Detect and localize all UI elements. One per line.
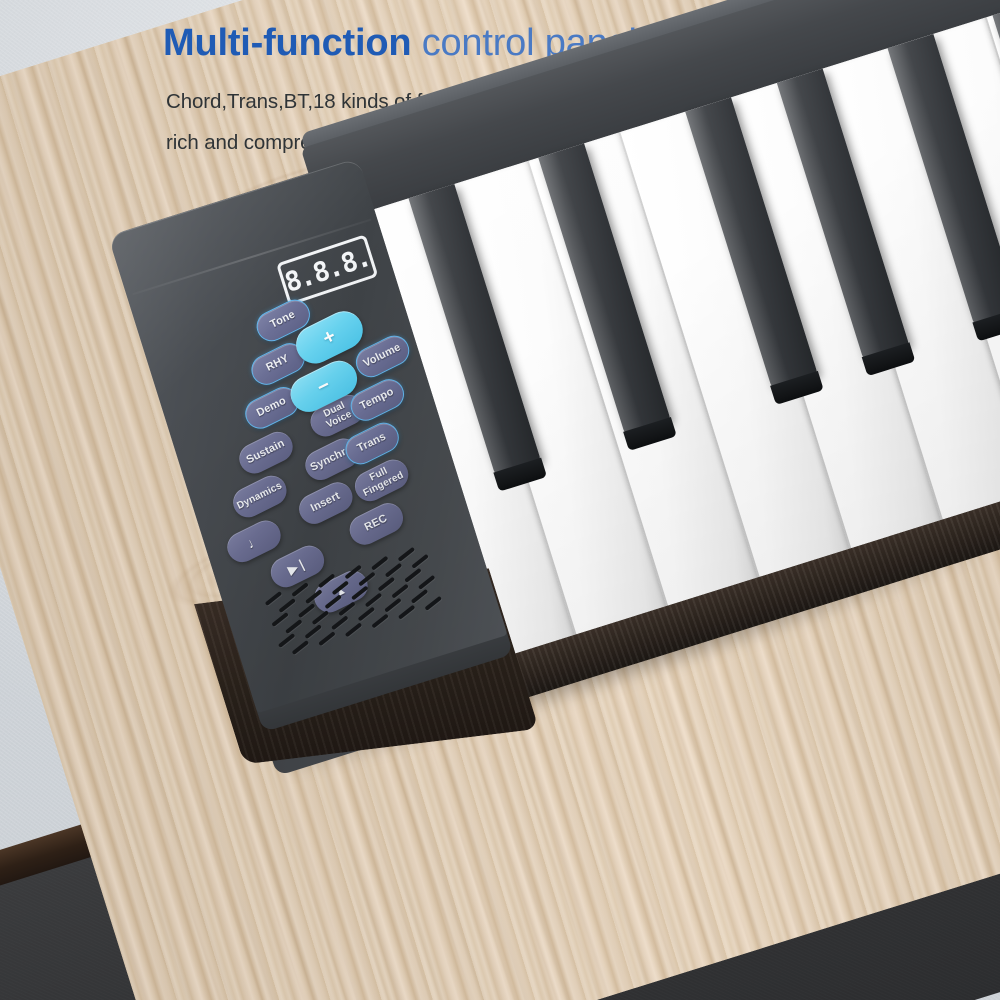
grille-slot	[338, 601, 355, 616]
grille-slot	[305, 589, 322, 604]
product-image-scene: Multi-function control panel Chord,Trans…	[0, 0, 1000, 1000]
tempo-button-label: Tempo	[359, 387, 396, 413]
grille-slot	[378, 577, 395, 592]
grille-slot	[312, 610, 329, 625]
grille-slot	[371, 614, 388, 629]
grille-slot	[285, 619, 302, 634]
grille-slot	[305, 624, 322, 639]
grille-slot	[318, 631, 335, 646]
grille-slot	[404, 568, 421, 583]
grille-slot	[278, 633, 295, 648]
grille-slot	[385, 563, 402, 578]
grille-slot	[365, 593, 382, 608]
insert-button-label: Insert	[309, 491, 342, 515]
grille-slot	[411, 589, 428, 604]
grille-slot	[398, 605, 415, 620]
grille-slot	[278, 598, 295, 613]
grille-slot	[351, 586, 368, 601]
grille-slot	[292, 640, 309, 655]
minus-button-label: −	[314, 375, 334, 399]
grille-slot	[358, 606, 375, 621]
grille-slot	[425, 596, 442, 611]
grille-slot	[332, 580, 349, 595]
play-pause-icon: ▶❘	[286, 557, 309, 577]
grille-slot	[298, 603, 315, 618]
plus-button-label: +	[320, 326, 340, 350]
grille-slot	[418, 575, 435, 590]
grille-slot	[391, 584, 408, 599]
metronome-icon: ♩	[245, 532, 264, 551]
grille-slot	[271, 612, 288, 627]
rec-button-label: REC	[363, 514, 389, 535]
grille-slot	[384, 598, 401, 613]
grille-slot	[324, 594, 341, 609]
grille-slot	[358, 572, 375, 587]
tone-button-label: Tone	[269, 310, 298, 332]
rhy-button-label: RHY	[265, 354, 291, 375]
page-title-bold: Multi-function	[163, 22, 411, 64]
trans-button-label: Trans	[356, 432, 388, 456]
grille-slot	[411, 554, 428, 569]
demo-button-label: Demo	[255, 396, 288, 420]
grille-slot	[345, 622, 362, 637]
grille-slot	[331, 615, 348, 630]
